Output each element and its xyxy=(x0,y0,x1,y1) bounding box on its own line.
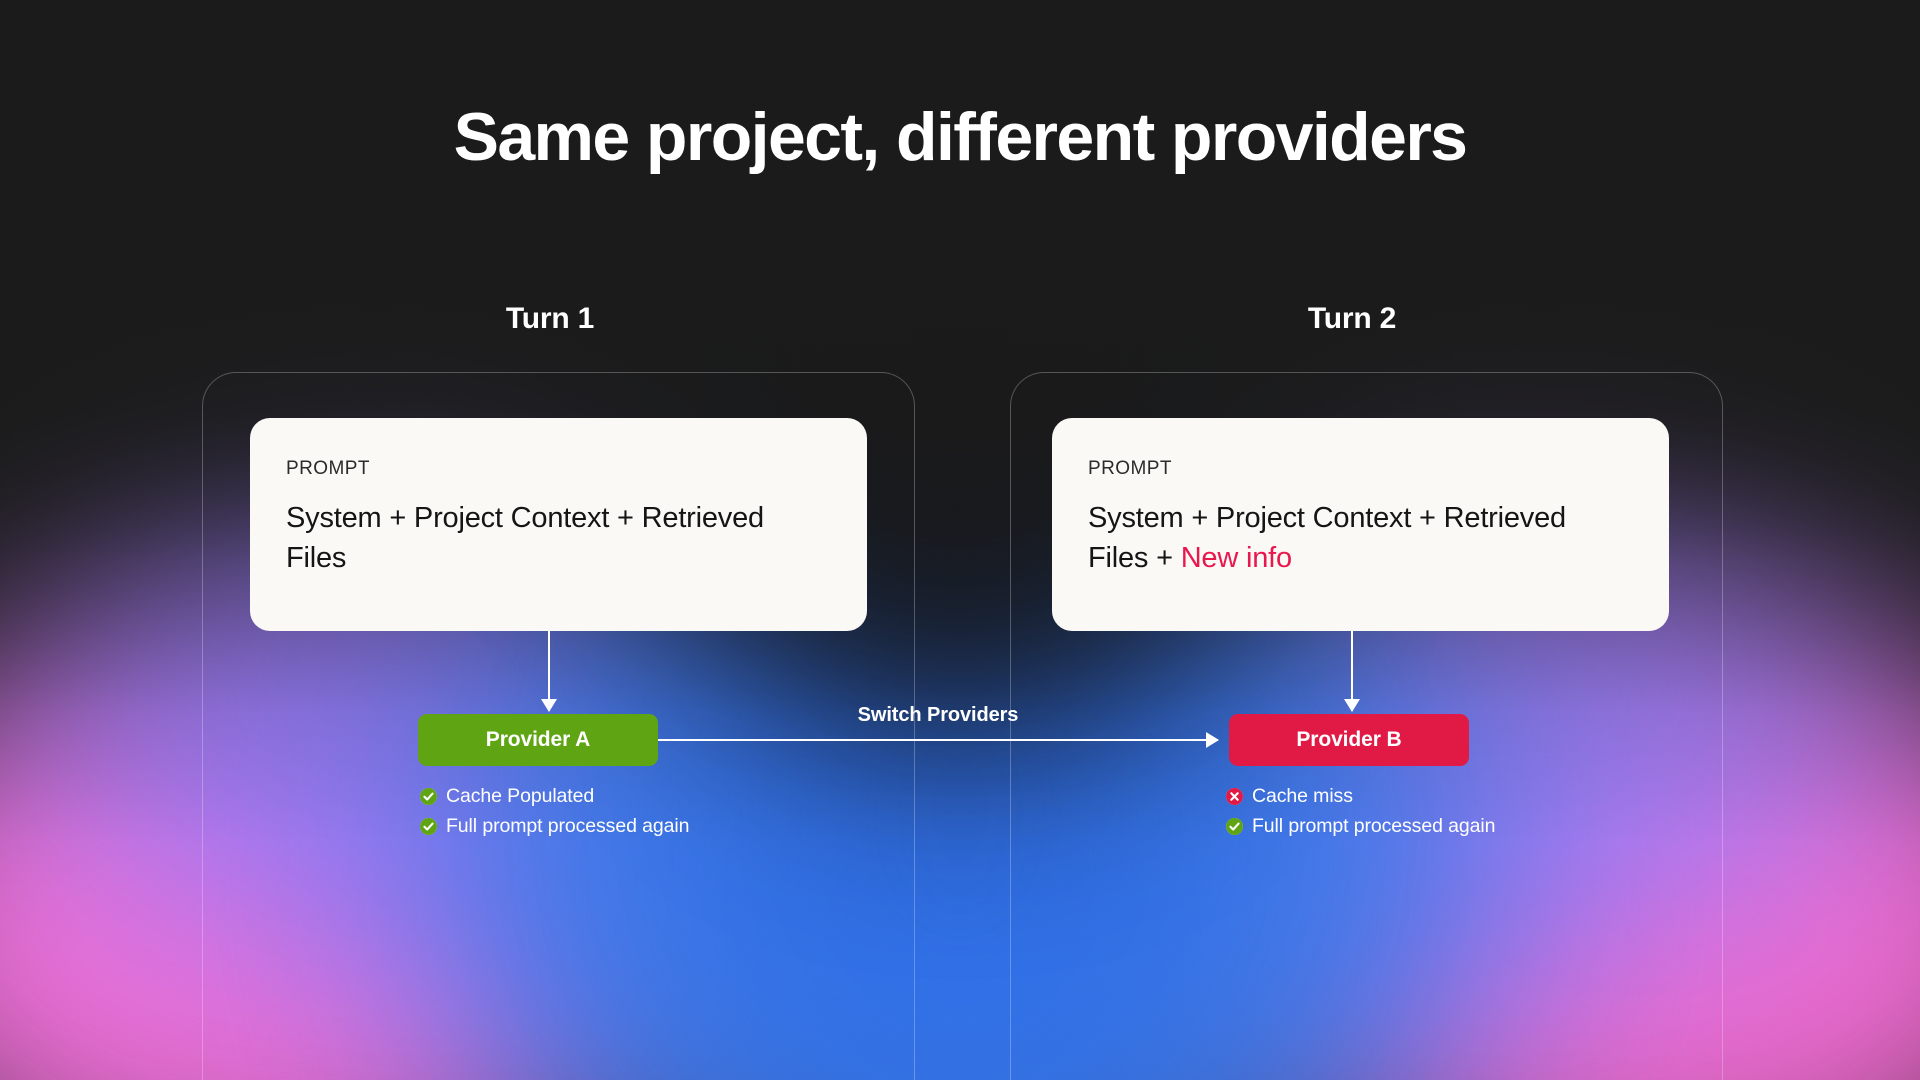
turn-1-down-arrow xyxy=(548,631,550,711)
switch-providers-arrow xyxy=(658,739,1218,741)
turn-2-heading: Turn 2 xyxy=(1172,302,1532,336)
turn-2-prompt-card: PROMPT System + Project Context + Retrie… xyxy=(1052,418,1669,631)
turn-2-status-list: Cache miss Full prompt processed again xyxy=(1226,785,1495,845)
turn-1-status-list: Cache Populated Full prompt processed ag… xyxy=(420,785,689,845)
check-circle-icon xyxy=(420,788,437,805)
status-item-label: Cache Populated xyxy=(446,785,594,808)
status-item: Cache miss xyxy=(1226,785,1495,808)
check-circle-icon xyxy=(1226,818,1243,835)
turn-2-prompt-accent-text: New info xyxy=(1181,542,1292,574)
status-item: Full prompt processed again xyxy=(420,815,689,838)
check-circle-icon xyxy=(420,818,437,835)
turn-1-prompt-text: System + Project Context + Retrieved Fil… xyxy=(286,502,764,574)
provider-b-pill[interactable]: Provider B xyxy=(1229,714,1469,766)
turn-1-prompt-body: System + Project Context + Retrieved Fil… xyxy=(286,498,831,578)
diagram-canvas: Same project, different providers Turn 1… xyxy=(0,0,1920,1080)
diagram-content: Same project, different providers Turn 1… xyxy=(0,0,1920,1080)
status-item: Full prompt processed again xyxy=(1226,815,1495,838)
turn-2-prompt-eyebrow: PROMPT xyxy=(1088,458,1633,480)
status-item: Cache Populated xyxy=(420,785,689,808)
page-title: Same project, different providers xyxy=(0,103,1920,171)
status-item-label: Full prompt processed again xyxy=(446,815,689,838)
turn-1-prompt-eyebrow: PROMPT xyxy=(286,458,831,480)
turn-2-prompt-text: System + Project Context + Retrieved Fil… xyxy=(1088,502,1566,574)
turn-2-prompt-body: System + Project Context + Retrieved Fil… xyxy=(1088,498,1633,578)
status-item-label: Cache miss xyxy=(1252,785,1353,808)
turn-1-prompt-card: PROMPT System + Project Context + Retrie… xyxy=(250,418,867,631)
x-circle-icon xyxy=(1226,788,1243,805)
switch-providers-label: Switch Providers xyxy=(658,704,1218,727)
turn-2-down-arrow xyxy=(1351,631,1353,711)
turn-1-heading: Turn 1 xyxy=(370,302,730,336)
status-item-label: Full prompt processed again xyxy=(1252,815,1495,838)
provider-a-pill[interactable]: Provider A xyxy=(418,714,658,766)
